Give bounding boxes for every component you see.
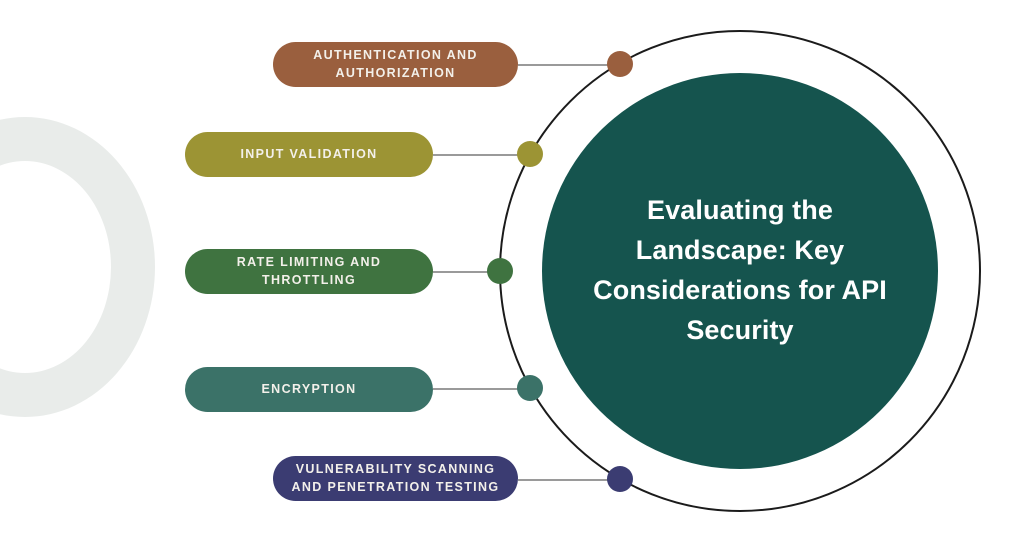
node-dot-authentication-and-authorization[interactable] [607, 51, 633, 77]
topic-pill-input-validation[interactable]: INPUT VALIDATION [185, 132, 433, 177]
node-dot-input-validation[interactable] [517, 141, 543, 167]
topic-pill-rate-limiting-and[interactable]: RATE LIMITING AND THROTTLING [185, 249, 433, 294]
connector-line-encryption [433, 388, 519, 390]
node-dot-rate-limiting-and[interactable] [487, 258, 513, 284]
center-disc: Evaluating the Landscape: Key Considerat… [542, 73, 938, 469]
topic-pill-encryption[interactable]: ENCRYPTION [185, 367, 433, 412]
node-dot-encryption[interactable] [517, 375, 543, 401]
connector-line-input-validation [433, 154, 519, 156]
node-dot-vulnerability-scanning-and[interactable] [607, 466, 633, 492]
topic-pill-authentication-and-authorization[interactable]: AUTHENTICATION AND AUTHORIZATION [273, 42, 518, 87]
background-donut-decoration [0, 117, 155, 417]
connector-line-rate-limiting-and [433, 271, 489, 273]
connector-line-authentication-and-authorization [518, 64, 608, 66]
connector-line-vulnerability-scanning-and [518, 479, 608, 481]
infographic-canvas: AUTHENTICATION AND AUTHORIZATIONINPUT VA… [0, 0, 1024, 536]
page-title: Evaluating the Landscape: Key Considerat… [575, 191, 905, 351]
topic-pill-vulnerability-scanning-and[interactable]: VULNERABILITY SCANNING AND PENETRATION T… [273, 456, 518, 501]
